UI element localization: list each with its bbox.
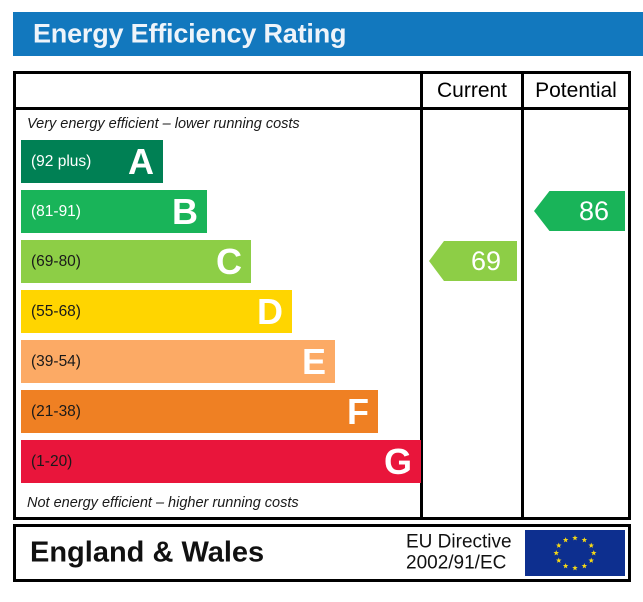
- title-bar: Energy Efficiency Rating: [13, 12, 643, 56]
- band-range-f: (21-38): [31, 403, 81, 421]
- epc-rating-table: Current Potential Very energy efficient …: [13, 71, 631, 520]
- eu-flag-icon: [525, 530, 625, 576]
- band-range-c: (69-80): [31, 253, 81, 271]
- band-letter-g: G: [384, 444, 412, 480]
- page-title: Energy Efficiency Rating: [33, 19, 346, 50]
- caption-not-efficient: Not energy efficient – higher running co…: [27, 495, 299, 511]
- band-letter-f: F: [347, 394, 369, 430]
- table-header-row: Current Potential: [16, 74, 628, 110]
- energy-band-a: (92 plus)A: [21, 140, 163, 183]
- band-range-b: (81-91): [31, 203, 81, 221]
- band-letter-d: D: [257, 294, 283, 330]
- column-divider-potential: [521, 110, 524, 520]
- caption-very-efficient: Very energy efficient – lower running co…: [27, 116, 300, 132]
- band-letter-c: C: [216, 244, 242, 280]
- footer-directive-line1: EU Directive: [406, 532, 512, 553]
- band-range-e: (39-54): [31, 353, 81, 371]
- band-letter-b: B: [172, 194, 198, 230]
- column-header-potential: Potential: [521, 74, 628, 107]
- energy-band-f: (21-38)F: [21, 390, 378, 433]
- footer-bar: England & Wales EU Directive 2002/91/EC: [13, 524, 631, 582]
- footer-directive-label: EU Directive 2002/91/EC: [406, 532, 512, 575]
- band-letter-a: A: [128, 144, 154, 180]
- band-letter-e: E: [302, 344, 326, 380]
- band-range-d: (55-68): [31, 303, 81, 321]
- band-range-g: (1-20): [31, 453, 72, 471]
- band-range-a: (92 plus): [31, 153, 91, 171]
- energy-band-d: (55-68)D: [21, 290, 292, 333]
- rating-arrow-potential: 86: [534, 191, 625, 231]
- footer-region-label: England & Wales: [30, 537, 264, 570]
- column-header-current: Current: [420, 74, 521, 107]
- footer-directive-line2: 2002/91/EC: [406, 553, 512, 574]
- energy-band-e: (39-54)E: [21, 340, 335, 383]
- rating-arrow-current: 69: [429, 241, 517, 281]
- energy-band-c: (69-80)C: [21, 240, 251, 283]
- energy-band-g: (1-20)G: [21, 440, 421, 483]
- energy-bands-area: Very energy efficient – lower running co…: [16, 110, 420, 520]
- energy-band-b: (81-91)B: [21, 190, 207, 233]
